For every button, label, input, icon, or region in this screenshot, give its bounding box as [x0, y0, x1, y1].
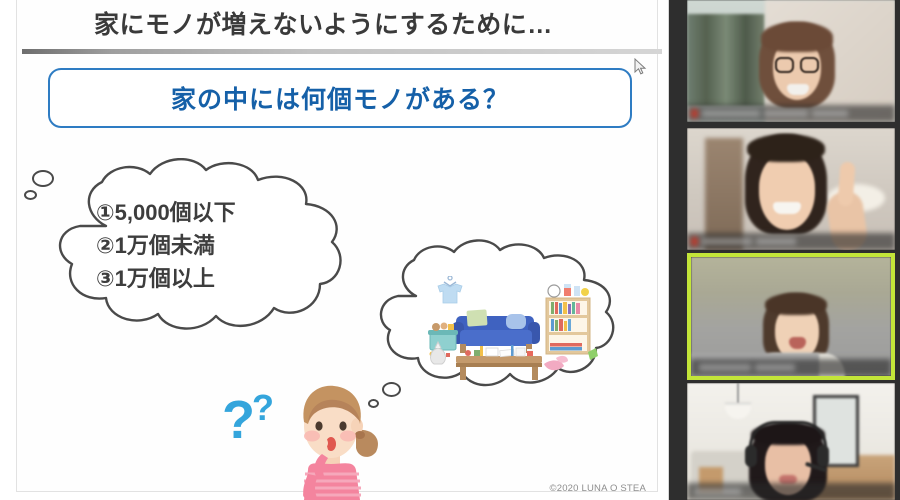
participant-1-video-feed — [687, 0, 895, 122]
cluttered-living-room-illustration — [428, 276, 613, 381]
title-divider-rule — [22, 49, 662, 54]
participant-name-label — [702, 238, 752, 245]
participant-name-bar — [687, 483, 895, 500]
participant-video-tile[interactable] — [687, 0, 895, 122]
svg-text:?: ? — [252, 387, 274, 428]
participant-2-video-feed — [687, 128, 895, 250]
scattered-cloth-icon — [544, 356, 568, 370]
list-item: ③1万個以上 — [96, 262, 346, 295]
list-item: ②1万個未満 — [96, 229, 346, 262]
shared-slide: 家にモノが増えないようにするために… 家の中には何個モノがある？ ①5,000個… — [0, 0, 669, 500]
participant-video-tile-active-speaker[interactable] — [687, 253, 895, 380]
mic-muted-icon — [691, 109, 698, 118]
participant-video-tile[interactable] — [687, 128, 895, 250]
participant-video-tile[interactable] — [687, 383, 895, 500]
answer-options-list: ①5,000個以下 ②1万個未満 ③1万個以上 — [96, 196, 346, 295]
participant-name-label-extra2 — [812, 110, 848, 117]
screen-share-meeting-view: 家にモノが増えないようにするために… 家の中には何個モノがある？ ①5,000個… — [0, 0, 900, 500]
participant-name-label — [699, 364, 751, 371]
participant-name-label — [695, 488, 741, 495]
participant-name-bar — [691, 359, 891, 376]
cloud-tail-bubble-large — [32, 170, 54, 187]
page-title: 家にモノが増えないようにするために… — [94, 10, 553, 40]
arrow-pointer-icon — [634, 58, 647, 76]
answer-choices-thought-cloud: ①5,000個以下 ②1万個未満 ③1万個以上 — [52, 158, 364, 338]
girl-thinking-illustration — [278, 378, 386, 500]
bookshelf-icon — [546, 284, 590, 354]
participant-name-label-extra — [756, 238, 796, 245]
mic-muted-icon — [691, 237, 698, 246]
participant-name-label — [702, 110, 760, 117]
copyright-notice: ©2020 LUNA O STEA — [550, 483, 646, 494]
participant-name-bar — [687, 233, 895, 250]
hanging-shirt-icon — [438, 276, 462, 303]
list-item: ①5,000個以下 — [96, 196, 346, 229]
svg-text:?: ? — [222, 390, 255, 450]
question-callout-box: 家の中には何個モノがある？ — [48, 68, 632, 128]
cloud-tail-bubble-small — [24, 190, 37, 200]
participant-name-label-extra — [755, 364, 795, 371]
sofa-icon — [452, 309, 540, 353]
participant-name-label-extra — [764, 110, 808, 117]
participant-video-panel — [669, 0, 900, 500]
question-text: 家の中には何個モノがある？ — [171, 80, 509, 116]
participant-name-bar — [687, 105, 895, 122]
coffee-table-icon — [456, 345, 542, 380]
